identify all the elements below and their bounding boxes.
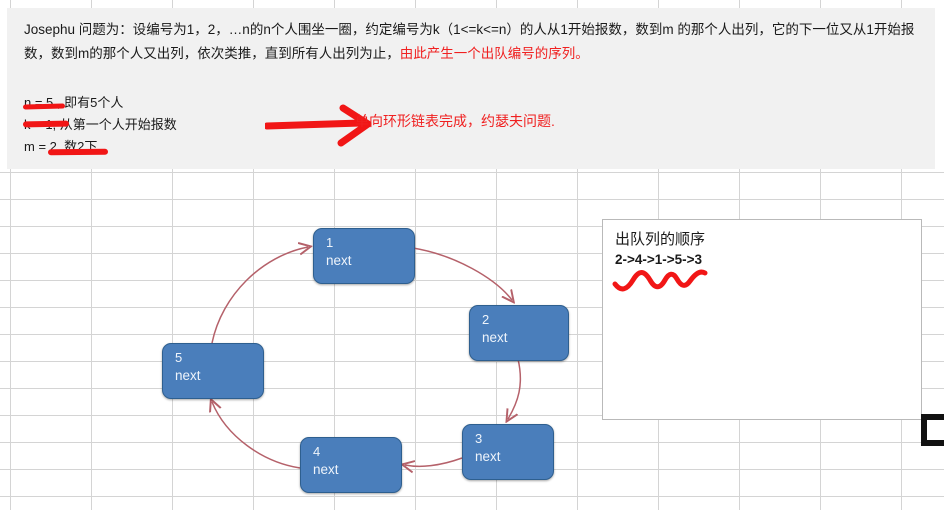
list-node-5[interactable]: 5 next [162,343,264,399]
list-node-number: 2 [482,312,489,327]
red-squiggle-underline-icon [611,266,741,296]
edge-bracket-marker [915,414,944,446]
problem-description: Josephu 问题为：设编号为1，2，…n的n个人围坐一圈，约定编号为k（1<… [24,18,924,66]
list-node-number: 5 [175,350,182,365]
result-box[interactable]: 出队列的顺序 2->4->1->5->3 [602,219,922,420]
list-node-number: 1 [326,235,333,250]
list-node-4[interactable]: 4 next [300,437,402,493]
problem-description-highlight: 由此产生一个出队编号的序列。 [400,46,589,61]
edge-bracket-bottom-bar [921,440,944,446]
list-node-1[interactable]: 1 next [313,228,415,284]
result-sequence: 2->4->1->5->3 [615,252,702,267]
list-node-next-label: next [175,368,201,383]
list-node-next-label: next [313,462,339,477]
list-node-3[interactable]: 3 next [462,424,554,480]
result-title: 出队列的顺序 [615,228,705,249]
list-node-next-label: next [475,449,501,464]
annotation-label: 单向环形链表完成，约瑟夫问题. [355,111,555,131]
list-node-2[interactable]: 2 next [469,305,569,361]
list-node-next-label: next [326,253,352,268]
list-node-number: 4 [313,444,320,459]
red-underline-k-icon [23,121,69,128]
red-underline-m-icon [48,149,108,156]
list-node-number: 3 [475,431,482,446]
list-node-next-label: next [482,330,508,345]
note-panel: Josephu 问题为：设编号为1，2，…n的n个人围坐一圈，约定编号为k（1<… [7,8,935,169]
